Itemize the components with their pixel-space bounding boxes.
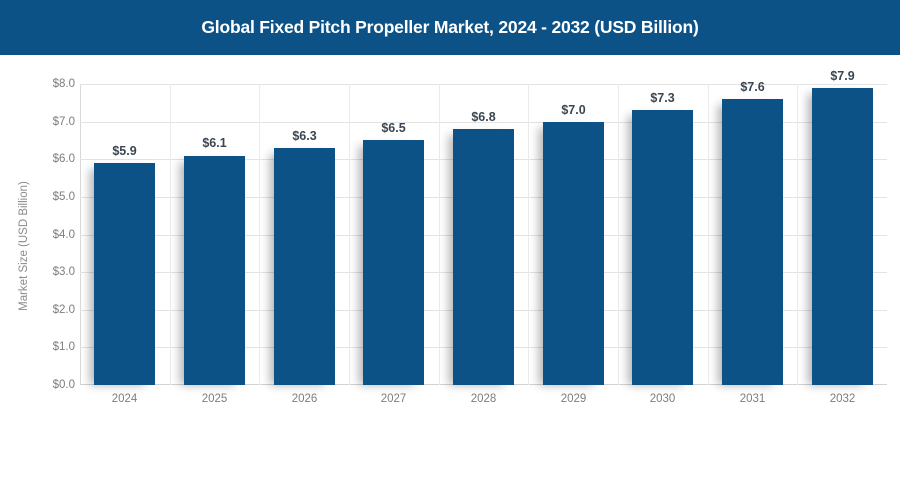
y-axis-tick-label: $4.0	[15, 229, 75, 241]
chart-title: Global Fixed Pitch Propeller Market, 202…	[0, 0, 900, 55]
bar-value-label: $7.6	[702, 80, 803, 94]
bar-value-label: $7.3	[612, 91, 713, 105]
y-axis-tick-label: $0.0	[15, 379, 75, 391]
chart-header-bar: Global Fixed Pitch Propeller Market, 202…	[0, 0, 900, 55]
bar-value-label: $5.9	[74, 144, 175, 158]
x-axis-tick-label: 2030	[612, 393, 713, 405]
bar[interactable]	[184, 156, 245, 386]
x-axis-tick-label: 2028	[433, 393, 534, 405]
category-separator	[708, 84, 709, 385]
bar-value-label: $6.3	[254, 129, 355, 143]
bar[interactable]	[363, 140, 424, 385]
x-axis-tick-label: 2027	[343, 393, 444, 405]
category-separator	[797, 84, 798, 385]
y-axis-tick-label: $7.0	[15, 116, 75, 128]
chart-screenshot: Global Fixed Pitch Propeller Market, 202…	[0, 0, 900, 500]
x-axis-tick-label: 2031	[702, 393, 803, 405]
bar-value-label: $6.8	[433, 110, 534, 124]
category-separator	[528, 84, 529, 385]
plot-area: $0.0$1.0$2.0$3.0$4.0$5.0$6.0$7.0$8.0 $5.…	[80, 84, 887, 385]
chart-body: Market Size (USD Billion) $0.0$1.0$2.0$3…	[0, 55, 900, 500]
x-axis-tick-label: 2025	[164, 393, 265, 405]
y-axis-tick-label: $1.0	[15, 341, 75, 353]
x-axis-tick-label: 2026	[254, 393, 355, 405]
bar[interactable]	[274, 148, 335, 385]
category-separator	[618, 84, 619, 385]
bar[interactable]	[543, 122, 604, 385]
bar-value-label: $7.9	[792, 69, 893, 83]
y-axis-tick-label: $3.0	[15, 266, 75, 278]
bar[interactable]	[632, 110, 693, 385]
x-axis-tick-label: 2029	[523, 393, 624, 405]
bar-value-label: $6.1	[164, 136, 265, 150]
bar-value-label: $6.5	[343, 121, 444, 135]
bar[interactable]	[812, 88, 873, 385]
bar-value-label: $7.0	[523, 103, 624, 117]
y-axis-tick-label: $5.0	[15, 191, 75, 203]
x-axis-tick-label: 2032	[792, 393, 893, 405]
bar[interactable]	[722, 99, 783, 385]
bar[interactable]	[94, 163, 155, 385]
bar[interactable]	[453, 129, 514, 385]
category-separator	[170, 84, 171, 385]
y-axis-tick-label: $6.0	[15, 153, 75, 165]
y-axis-tick-label: $8.0	[15, 78, 75, 90]
x-axis-tick-label: 2024	[74, 393, 175, 405]
y-axis-tick-label: $2.0	[15, 304, 75, 316]
